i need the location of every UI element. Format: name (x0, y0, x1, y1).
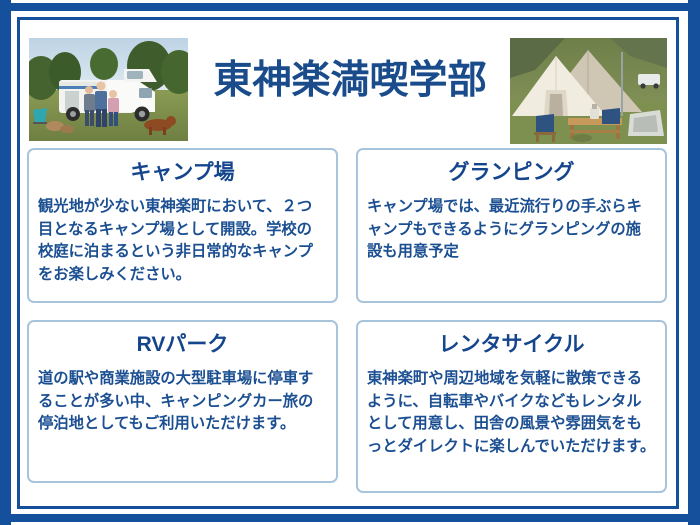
card-rv-park[interactable]: RVパーク 道の駅や商業施設の大型駐車場に停車することが多い中、キャンピングカー… (27, 320, 338, 483)
card-rental-cycle[interactable]: レンタサイクル 東神楽町や周辺地域を気軽に散策できるように、自転車やバイクなども… (356, 320, 667, 493)
card-title: RVパーク (38, 331, 327, 359)
card-body: 観光地が少ない東神楽町において、２つ目となるキャンプ場として開設。学校の校庭に泊… (38, 196, 327, 286)
card-body: キャンプ場では、最近流行りの手ぶらキャンプもできるようにグランピングの施設も用意… (367, 196, 656, 264)
glamping-tent-photo (510, 38, 667, 144)
card-title: グランピング (367, 159, 656, 187)
motorhome-family-photo (29, 38, 188, 141)
slide-canvas: 東神楽満喫学部 キャンプ場 観光地が少ない東神楽町において、２つ目となるキャンプ… (0, 0, 700, 525)
page-title: 東神楽満喫学部 (200, 58, 500, 104)
content-card-grid: キャンプ場 観光地が少ない東神楽町において、２つ目となるキャンプ場として開設。学… (27, 148, 671, 493)
card-title: レンタサイクル (367, 331, 656, 359)
card-title: キャンプ場 (38, 159, 327, 187)
slide-header: 東神楽満喫学部 (20, 20, 676, 140)
card-body: 東神楽町や周辺地域を気軽に散策できるように、自転車やバイクなどもレンタルとして用… (367, 368, 656, 458)
card-glamping[interactable]: グランピング キャンプ場では、最近流行りの手ぶらキャンプもできるようにグランピン… (356, 148, 667, 303)
card-campsite[interactable]: キャンプ場 観光地が少ない東神楽町において、２つ目となるキャンプ場として開設。学… (27, 148, 338, 303)
card-body: 道の駅や商業施設の大型駐車場に停車することが多い中、キャンピングカー旅の停泊地と… (38, 368, 327, 436)
